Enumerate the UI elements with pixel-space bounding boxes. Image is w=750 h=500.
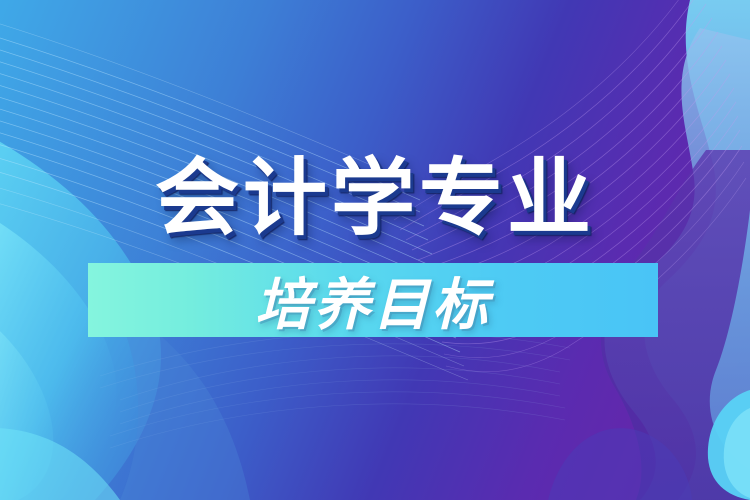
banner-poster: 会计学专业 培养目标 (0, 0, 750, 500)
page-title: 会计学专业 (0, 152, 750, 244)
page-subtitle: 培养目标 (88, 263, 658, 337)
banner-content: 会计学专业 培养目标 (0, 0, 750, 500)
